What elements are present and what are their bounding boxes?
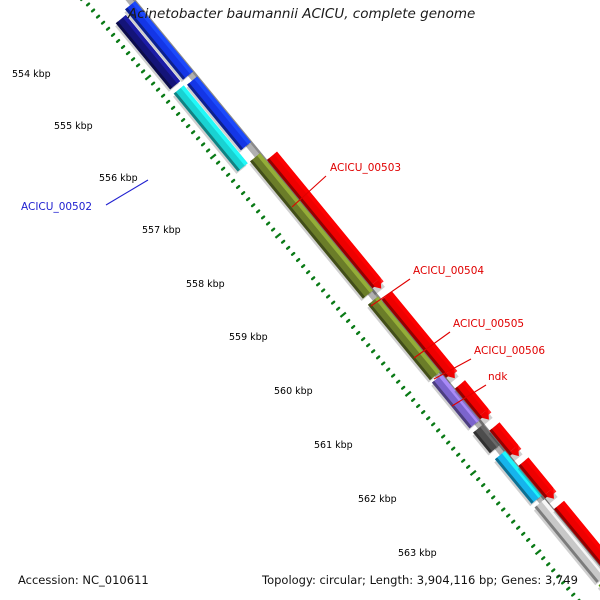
ruler-minor-tick — [402, 387, 404, 389]
gene-features-group[interactable] — [69, 0, 600, 600]
genome-map-canvas[interactable]: 554 kbp555 kbp556 kbp557 kbp558 kbp559 k… — [0, 0, 600, 600]
ruler-minor-tick — [432, 423, 434, 425]
ruler-minor-tick — [272, 229, 274, 231]
ruler-minor-tick — [257, 211, 259, 213]
ruler-minor-tick — [137, 64, 139, 66]
ruler-major-tick — [275, 233, 280, 237]
ruler-minor-tick — [172, 107, 174, 109]
ruler-minor-tick — [287, 247, 289, 249]
ruler-minor-tick — [237, 186, 239, 188]
ruler-minor-tick — [262, 217, 264, 219]
ruler-major-tick — [405, 392, 410, 396]
ruler-minor-tick — [267, 223, 269, 225]
ruler-minor-tick — [227, 174, 229, 176]
ruler-minor-tick — [512, 521, 514, 523]
ruler-minor-tick — [422, 411, 424, 413]
gene-body[interactable] — [250, 153, 373, 298]
ruler-tick-label: 554 kbp — [12, 69, 51, 80]
ruler-minor-tick — [377, 357, 379, 359]
ruler-minor-tick — [192, 131, 194, 133]
gene-label-acicu_00505[interactable]: ACICU_00505 — [453, 318, 524, 330]
ruler-minor-tick — [312, 277, 314, 279]
ruler-minor-tick — [357, 332, 359, 334]
ruler-minor-tick — [347, 320, 349, 322]
ruler-minor-tick — [467, 466, 469, 468]
ruler-minor-tick — [182, 119, 184, 121]
ruler-minor-tick — [122, 46, 124, 48]
ruler-minor-tick — [177, 113, 179, 115]
ruler-tick-marks — [15, 0, 600, 600]
ruler-minor-tick — [457, 454, 459, 456]
ruler-minor-tick — [162, 95, 164, 97]
ruler-minor-tick — [462, 460, 464, 462]
ruler-minor-tick — [187, 125, 189, 127]
ruler-minor-tick — [327, 296, 329, 298]
ruler-minor-tick — [157, 89, 159, 91]
ruler-minor-tick — [387, 369, 389, 371]
ruler-minor-tick — [92, 10, 94, 12]
ruler-major-tick — [145, 75, 150, 79]
ruler-minor-tick — [392, 375, 394, 377]
ruler-minor-tick — [207, 150, 209, 152]
ruler-minor-tick — [107, 28, 109, 30]
ruler-minor-tick — [547, 563, 549, 565]
ruler-major-tick — [536, 550, 541, 554]
gene-shade — [250, 160, 365, 299]
gene-highlight — [257, 153, 373, 293]
gene-label-acicu_00506[interactable]: ACICU_00506 — [474, 345, 545, 357]
ruler-minor-tick — [417, 405, 419, 407]
ruler-minor-tick — [567, 588, 569, 590]
ruler-minor-tick — [252, 204, 254, 206]
ruler-tick-label: 555 kbp — [54, 121, 93, 132]
ruler-minor-tick — [542, 557, 544, 559]
ruler-minor-tick — [302, 265, 304, 267]
ruler-minor-tick — [247, 198, 249, 200]
ruler-minor-tick — [87, 4, 89, 6]
ruler-minor-tick — [527, 539, 529, 541]
ruler-minor-tick — [477, 478, 479, 480]
page-title: Acinetobacter baumannii ACICU, complete … — [127, 6, 475, 22]
ruler-minor-tick — [102, 22, 104, 24]
ruler-minor-tick — [332, 302, 334, 304]
ruler-minor-tick — [167, 101, 169, 103]
ruler-minor-tick — [352, 326, 354, 328]
ruler-minor-tick — [117, 40, 119, 42]
genome-backbone — [35, 0, 600, 600]
ruler-minor-tick — [97, 16, 99, 18]
backbone-rail — [35, 0, 600, 600]
gene-shade — [267, 158, 375, 288]
ruler-minor-tick — [322, 290, 324, 292]
ruler-minor-tick — [492, 496, 494, 498]
ruler-minor-tick — [507, 515, 509, 517]
ruler-minor-tick — [297, 259, 299, 261]
ruler-minor-tick — [202, 144, 204, 146]
ruler-minor-tick — [362, 338, 364, 340]
ruler-minor-tick — [427, 417, 429, 419]
ruler-minor-tick — [482, 484, 484, 486]
ruler-minor-tick — [557, 576, 559, 578]
ruler-major-tick — [340, 313, 345, 317]
ruler-minor-tick — [217, 162, 219, 164]
backbone-rail — [37, 0, 600, 600]
ruler-minor-tick — [522, 533, 524, 535]
ruler-minor-tick — [222, 168, 224, 170]
ruler-minor-tick — [337, 308, 339, 310]
ruler-minor-tick — [447, 442, 449, 444]
ruler-minor-tick — [127, 52, 129, 54]
ruler-minor-tick — [152, 83, 154, 85]
ruler-tick-label: 556 kbp — [99, 173, 138, 184]
ruler-minor-tick — [242, 192, 244, 194]
ruler-minor-tick — [232, 180, 234, 182]
genome-viewer[interactable]: 554 kbp555 kbp556 kbp557 kbp558 kbp559 k… — [0, 0, 600, 600]
gene-label-acicu_00504[interactable]: ACICU_00504 — [413, 265, 484, 277]
ruler-minor-tick — [282, 241, 284, 243]
ruler-minor-tick — [292, 253, 294, 255]
ruler-minor-tick — [142, 71, 144, 73]
ruler-minor-tick — [372, 350, 374, 352]
ruler-major-tick — [470, 471, 475, 475]
ruler-major-tick — [210, 154, 215, 158]
ruler-minor-tick — [367, 344, 369, 346]
gene-feature[interactable] — [248, 153, 373, 301]
ruler-minor-tick — [307, 271, 309, 273]
ruler-tick-label: 559 kbp — [229, 332, 268, 343]
gene-label-acicu_00502[interactable]: ACICU_00502 — [21, 201, 92, 213]
ruler-minor-tick — [562, 582, 564, 584]
ruler-tick-label: 561 kbp — [314, 440, 353, 451]
ruler-minor-tick — [197, 137, 199, 139]
ruler-minor-tick — [112, 34, 114, 36]
ruler-minor-tick — [572, 594, 574, 596]
ruler-minor-tick — [412, 399, 414, 401]
ruler-minor-tick — [382, 363, 384, 365]
ruler-minor-tick — [132, 58, 134, 60]
ruler-minor-tick — [497, 503, 499, 505]
ruler-minor-tick — [487, 490, 489, 492]
ruler-minor-tick — [442, 436, 444, 438]
ruler-tick-label: 558 kbp — [186, 279, 225, 290]
ruler-minor-tick — [317, 284, 319, 286]
ruler-tick-label: 563 kbp — [398, 548, 437, 559]
ruler-minor-tick — [552, 570, 554, 572]
gene-label-ndk[interactable]: ndk — [488, 371, 508, 383]
ruler-minor-tick — [397, 381, 399, 383]
ruler-minor-tick — [532, 545, 534, 547]
ruler-major-tick — [80, 0, 85, 1]
ruler-minor-tick — [452, 448, 454, 450]
ruler-tick-label: 560 kbp — [274, 386, 313, 397]
gene-label-acicu_00503[interactable]: ACICU_00503 — [330, 162, 401, 174]
ruler-minor-tick — [502, 509, 504, 511]
ruler-minor-tick — [437, 430, 439, 432]
ruler-tick-label: 557 kbp — [142, 225, 181, 236]
ruler-tick-label: 562 kbp — [358, 494, 397, 505]
ruler-minor-tick — [517, 527, 519, 529]
